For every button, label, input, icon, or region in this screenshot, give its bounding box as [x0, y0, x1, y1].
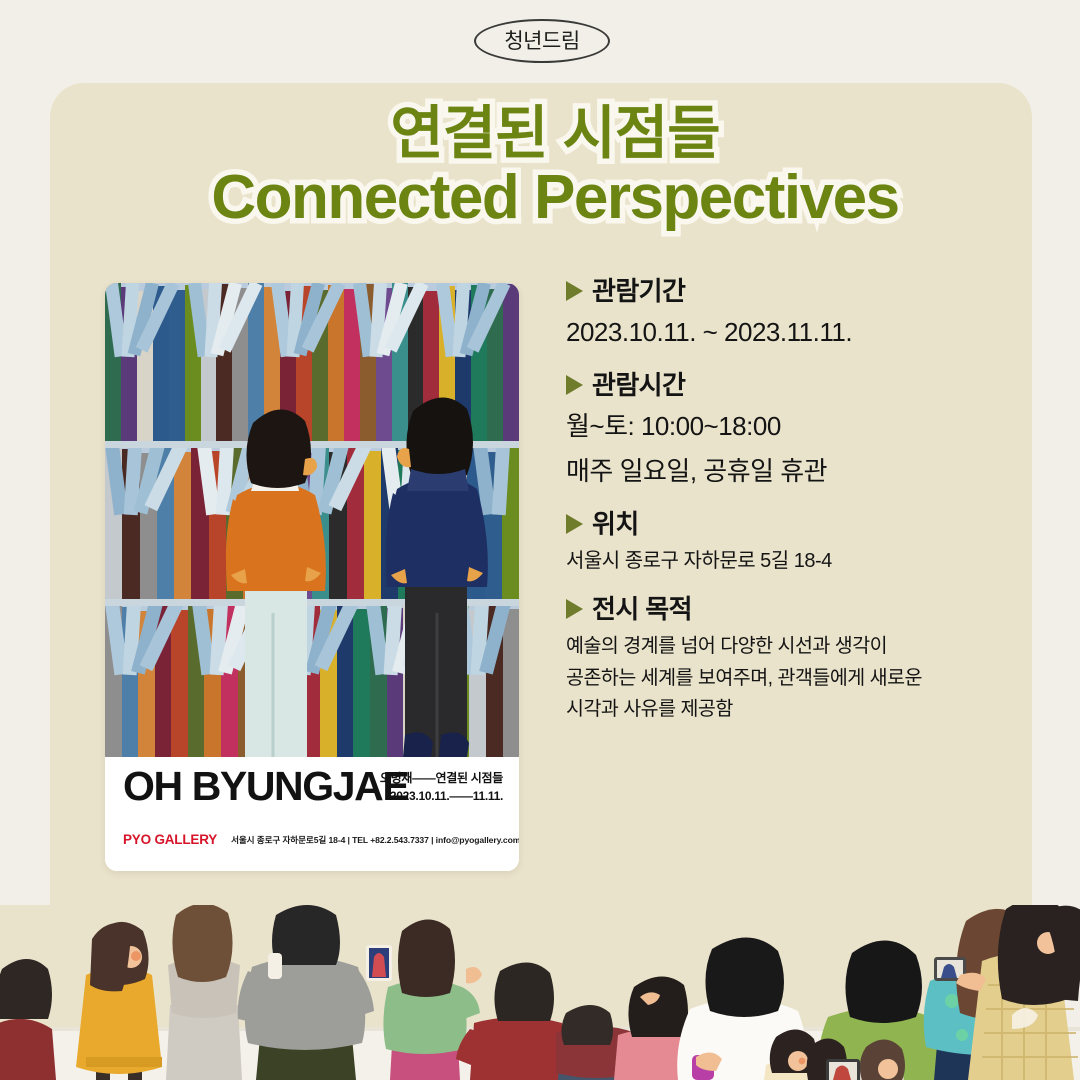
poster-footer: OH BYUNGJAE 오병재——연결된 시점들 2023.10.11.——11…: [105, 757, 519, 871]
info-heading: 전시 목적: [566, 596, 1026, 622]
info-block-2: 관람시간월~토: 10:00~18:00매주 일요일, 공휴일 휴관: [566, 372, 1026, 491]
poster-figures: [105, 283, 519, 757]
triangle-bullet-icon: [566, 514, 583, 534]
info-heading-label: 관람시간: [592, 372, 685, 398]
info-block-4: 전시 목적예술의 경계를 넘어 다양한 시선과 생각이공존하는 세계를 보여주며…: [566, 596, 1026, 726]
poster-meta-korean: 오병재——연결된 시점들: [380, 770, 503, 787]
info-line: 매주 일요일, 공휴일 휴관: [566, 452, 1026, 491]
exhibition-poster-card[interactable]: OH BYUNGJAE 오병재——연결된 시점들 2023.10.11.——11…: [105, 283, 519, 871]
crowd-illustration: [0, 905, 1080, 1080]
info-line: 서울시 종로구 자하문로 5길 18-4: [566, 546, 1026, 576]
info-heading: 관람기간: [566, 278, 1026, 304]
exhibition-info-list: 관람기간2023.10.11. ~ 2023.11.11.관람시간월~토: 10…: [566, 278, 1026, 746]
poster-meta-dates: 2023.10.11.——11.11.: [380, 788, 503, 805]
info-heading: 관람시간: [566, 372, 1026, 398]
info-heading: 위치: [566, 511, 1026, 537]
poster-canvas: 청년드림 연결된 시점들 Connected Perspectives OH B…: [0, 0, 1080, 1080]
poster-artwork: [105, 283, 519, 757]
title-english: Connected Perspectives: [140, 166, 970, 230]
gallery-name: PYO GALLERY: [123, 832, 217, 847]
poster-gallery-line: PYO GALLERY 서울시 종로구 자하문로5길 18-4 | TEL +8…: [123, 832, 505, 847]
info-heading-label: 위치: [592, 511, 639, 537]
gallery-contact-info: 서울시 종로구 자하문로5길 18-4 | TEL +82.2.543.7337…: [231, 834, 519, 846]
page-title: 연결된 시점들 Connected Perspectives: [140, 104, 970, 231]
info-line: 시각과 사유를 제공함: [566, 694, 1026, 726]
poster-artist-name: OH BYUNGJAE: [123, 766, 408, 807]
info-line: 공존하는 세계를 보여주며, 관객들에게 새로운: [566, 663, 1026, 695]
info-line: 2023.10.11. ~ 2023.11.11.: [566, 313, 1026, 352]
triangle-bullet-icon: [566, 281, 583, 301]
info-block-3: 위치서울시 종로구 자하문로 5길 18-4: [566, 511, 1026, 576]
info-heading-label: 전시 목적: [592, 596, 692, 622]
info-block-1: 관람기간2023.10.11. ~ 2023.11.11.: [566, 278, 1026, 352]
crowd-figure-2: [166, 905, 242, 1080]
info-heading-label: 관람기간: [592, 278, 685, 304]
brand-badge-label: 청년드림: [504, 31, 579, 52]
info-line: 예술의 경계를 넘어 다양한 시선과 생각이: [566, 631, 1026, 663]
title-korean: 연결된 시점들: [140, 104, 970, 164]
poster-meta: 오병재——연결된 시점들 2023.10.11.——11.11.: [380, 770, 503, 805]
triangle-bullet-icon: [566, 599, 583, 619]
triangle-bullet-icon: [566, 375, 583, 395]
brand-badge: 청년드림: [474, 19, 610, 63]
info-line: 월~토: 10:00~18:00: [566, 407, 1026, 446]
